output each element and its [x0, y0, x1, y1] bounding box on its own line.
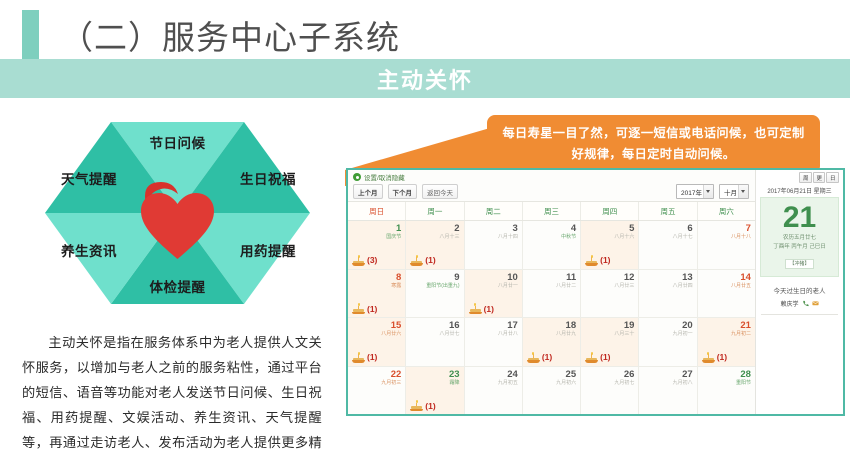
birthday-event[interactable]: (1): [527, 352, 576, 363]
birthday-count: (1): [717, 352, 727, 362]
day-lunar-label: 八月三十: [585, 331, 634, 338]
calendar-day-cell[interactable]: 23霜降(1): [406, 367, 464, 415]
day-number: 17: [469, 320, 518, 331]
day-number: 15: [352, 320, 401, 331]
day-lunar-label: 八月廿二: [527, 283, 576, 290]
day-number: 18: [527, 320, 576, 331]
birthday-cake-icon: [352, 255, 365, 266]
day-number: 9: [410, 272, 459, 283]
prev-month-button[interactable]: 上个月: [353, 184, 383, 199]
day-number: 12: [585, 272, 634, 283]
side-day-card: 21 农历五月廿七 丁酉年 丙午月 己巳日 【冲猪】: [760, 197, 839, 277]
calendar-day-cell[interactable]: 6八月十七: [639, 221, 697, 269]
birthday-event[interactable]: (1): [702, 352, 751, 363]
day-number: 7: [702, 223, 751, 234]
weekday-tuesday: 周二: [465, 202, 523, 220]
calendar-week-row: 15八月廿六(1)16八月廿七17八月廿八18八月廿九(1)19八月三十(1)2…: [348, 318, 755, 367]
today-button[interactable]: 返回今天: [422, 184, 458, 199]
day-number: 10: [469, 272, 518, 283]
birthday-event[interactable]: (1): [352, 303, 401, 314]
day-number: 14: [702, 272, 751, 283]
calendar-day-cell[interactable]: 25九月初六: [523, 367, 581, 415]
side-divider: [761, 314, 838, 315]
day-lunar-label: 九月初七: [585, 380, 634, 387]
day-number: 26: [585, 369, 634, 380]
hex-label-birthday-wish: 生日祝福: [240, 168, 296, 188]
day-lunar-label: 中秋节: [527, 234, 576, 241]
calendar-day-cell[interactable]: 19八月三十(1): [581, 318, 639, 366]
day-lunar-label: 九月初一: [643, 331, 692, 338]
day-number: 21: [702, 320, 751, 331]
calendar-day-cell[interactable]: 24九月初五: [465, 367, 523, 415]
calendar-day-cell[interactable]: 15八月廿六(1): [348, 318, 406, 366]
calendar-day-cell[interactable]: 3八月十四: [465, 221, 523, 269]
weekday-monday: 周一: [406, 202, 464, 220]
day-lunar-label: 八月廿四: [643, 283, 692, 290]
side-day-number: 21: [761, 201, 838, 234]
year-select[interactable]: 2017年: [676, 184, 714, 199]
day-lunar-label: 八月十三: [410, 234, 459, 241]
birthday-count: (1): [484, 304, 494, 314]
day-lunar-label: 九月初五: [469, 380, 518, 387]
day-number: 20: [643, 320, 692, 331]
view-month-button[interactable]: 更: [813, 172, 826, 183]
day-lunar-label: 九月初八: [643, 380, 692, 387]
day-lunar-label: 八月廿七: [410, 331, 459, 338]
slide-root: （二）服务中心子系统 主动关怀 节日问候 生日祝福 用药提醒 体检提醒 养生资讯…: [0, 0, 850, 452]
day-number: 11: [527, 272, 576, 283]
weekday-header: 周日 周一 周二 周三 周四 周五 周六: [348, 201, 755, 221]
side-current-date: 2017年06月21日 星期三: [756, 183, 843, 197]
birthday-count: (1): [425, 401, 435, 411]
weekday-sunday: 周日: [348, 202, 406, 220]
birthday-count: (3): [367, 255, 377, 265]
phone-icon[interactable]: [802, 300, 809, 307]
side-ganzhi-date: 丁酉年 丙午月 己巳日: [761, 243, 838, 252]
calendar-day-cell[interactable]: 13八月廿四: [639, 270, 697, 318]
side-zodiac-tag: 【冲猪】: [785, 259, 813, 269]
calendar-toolbar: 设置/取消隐藏 上个月 下个月 返回今天 2017年 十月: [348, 170, 755, 201]
day-number: 5: [585, 223, 634, 234]
view-toggle-group[interactable]: 周 更 日: [756, 170, 843, 183]
birthday-count: (1): [425, 255, 435, 265]
day-lunar-label: 重阳节(出重九): [410, 283, 459, 290]
description-paragraph: 主动关怀是指在服务体系中为老人提供人文关怀服务，以增加与老人之前的服务粘性，通过…: [22, 330, 322, 452]
calendar-week-row: 8寒露(1)9重阳节(出重九)10八月廿一(1)11八月廿二12八月廿三13八月…: [348, 270, 755, 319]
callout-bubble: 每日寿星一目了然，可逐一短信或电话问候，也可定制好规律，每日定时自动问候。: [487, 115, 820, 174]
view-week-button[interactable]: 周: [799, 172, 812, 183]
side-lunar-date: 农历五月廿七: [761, 234, 838, 243]
calendar-week-row: 1国庆节(3)2八月十三(1)3八月十四4中秋节5八月十六(1)6八月十七7八月…: [348, 221, 755, 270]
day-number: 22: [352, 369, 401, 380]
calendar-day-cell[interactable]: 21九月初二(1): [698, 318, 755, 366]
day-lunar-label: 八月廿五: [702, 283, 751, 290]
day-lunar-label: 八月十四: [469, 234, 518, 241]
message-icon[interactable]: [812, 300, 819, 307]
birthday-event[interactable]: (1): [352, 352, 401, 363]
day-lunar-label: 霜降: [410, 380, 459, 387]
day-number: 1: [352, 223, 401, 234]
hex-label-holiday-greeting: 节日问候: [150, 132, 206, 152]
day-number: 6: [643, 223, 692, 234]
side-birthday-name: 赖庆学: [780, 299, 798, 308]
gear-icon: [353, 173, 361, 181]
calendar-day-cell[interactable]: 10八月廿一(1): [465, 270, 523, 318]
day-number: 3: [469, 223, 518, 234]
next-month-button[interactable]: 下个月: [388, 184, 418, 199]
calendar-day-cell[interactable]: 8寒露(1): [348, 270, 406, 318]
calendar-side-panel: 周 更 日 2017年06月21日 星期三 21 农历五月廿七 丁酉年 丙午月 …: [755, 170, 843, 414]
calendar-day-cell[interactable]: 28重阳节: [698, 367, 755, 415]
day-lunar-label: 八月十八: [702, 234, 751, 241]
birthday-event[interactable]: (1): [585, 255, 634, 266]
birthday-cake-icon: [352, 303, 365, 314]
calendar-day-cell[interactable]: 5八月十六(1): [581, 221, 639, 269]
birthday-cake-icon: [585, 255, 598, 266]
day-lunar-label: 九月初三: [352, 380, 401, 387]
calendar-day-cell[interactable]: 20九月初一: [639, 318, 697, 366]
page-subtitle: 主动关怀: [0, 63, 850, 95]
day-number: 24: [469, 369, 518, 380]
calendar-day-cell[interactable]: 7八月十八: [698, 221, 755, 269]
day-number: 8: [352, 272, 401, 283]
birthday-count: (1): [367, 352, 377, 362]
day-lunar-label: 八月十六: [585, 234, 634, 241]
calendar-day-cell[interactable]: 27九月初八: [639, 367, 697, 415]
birthday-event[interactable]: (1): [469, 303, 518, 314]
page-title: （二）服务中心子系统: [60, 11, 400, 59]
day-number: 16: [410, 320, 459, 331]
weekday-thursday: 周四: [581, 202, 639, 220]
month-select[interactable]: 十月: [719, 184, 749, 199]
birthday-cake-icon: [585, 352, 598, 363]
birthday-cake-icon: [469, 303, 482, 314]
calendar-week-row: 22九月初三23霜降(1)24九月初五25九月初六26九月初七27九月初八28重…: [348, 367, 755, 415]
calendar-main: 设置/取消隐藏 上个月 下个月 返回今天 2017年 十月 周日 周一 周二 周…: [348, 170, 755, 414]
day-lunar-label: 八月廿六: [352, 331, 401, 338]
day-number: 13: [643, 272, 692, 283]
day-number: 27: [643, 369, 692, 380]
day-number: 23: [410, 369, 459, 380]
day-lunar-label: 寒露: [352, 283, 401, 290]
calendar-day-cell[interactable]: 17八月廿八: [465, 318, 523, 366]
calendar-day-cell[interactable]: 4中秋节: [523, 221, 581, 269]
day-lunar-label: 八月廿九: [527, 331, 576, 338]
calendar-grid: 1国庆节(3)2八月十三(1)3八月十四4中秋节5八月十六(1)6八月十七7八月…: [348, 221, 755, 414]
day-lunar-label: 八月廿八: [469, 331, 518, 338]
calendar-day-cell[interactable]: 22九月初三: [348, 367, 406, 415]
calendar-day-cell[interactable]: 1国庆节(3): [348, 221, 406, 269]
calendar-day-cell[interactable]: 2八月十三(1): [406, 221, 464, 269]
view-day-button[interactable]: 日: [826, 172, 839, 183]
birthday-count: (1): [542, 352, 552, 362]
day-lunar-label: 重阳节: [702, 380, 751, 387]
birthday-count: (1): [600, 352, 610, 362]
hex-label-weather-reminder: 天气提醒: [61, 168, 117, 188]
birthday-cake-icon: [702, 352, 715, 363]
birthday-count: (1): [600, 255, 610, 265]
birthday-event[interactable]: (1): [585, 352, 634, 363]
birthday-cake-icon: [352, 352, 365, 363]
day-lunar-label: 八月廿三: [585, 283, 634, 290]
day-number: 28: [702, 369, 751, 380]
calendar-window: 设置/取消隐藏 上个月 下个月 返回今天 2017年 十月 周日 周一 周二 周…: [346, 168, 845, 416]
weekday-saturday: 周六: [698, 202, 755, 220]
day-lunar-label: 八月十七: [643, 234, 692, 241]
calendar-day-cell[interactable]: 18八月廿九(1): [523, 318, 581, 366]
calendar-day-cell[interactable]: 14八月廿五: [698, 270, 755, 318]
day-lunar-label: 八月廿一: [469, 283, 518, 290]
day-number: 19: [585, 320, 634, 331]
calendar-day-cell[interactable]: 26九月初七: [581, 367, 639, 415]
calendar-day-cell[interactable]: 11八月廿二: [523, 270, 581, 318]
calendar-day-cell[interactable]: 12八月廿三: [581, 270, 639, 318]
settings-toggle[interactable]: 设置/取消隐藏: [353, 172, 750, 182]
day-number: 25: [527, 369, 576, 380]
hex-label-health-info: 养生资讯: [61, 240, 117, 260]
day-number: 4: [527, 223, 576, 234]
hex-label-medication-reminder: 用药提醒: [240, 240, 296, 260]
settings-toggle-label: 设置/取消隐藏: [364, 172, 405, 182]
weekday-friday: 周五: [639, 202, 697, 220]
birthday-cake-icon: [410, 400, 423, 411]
birthday-cake-icon: [527, 352, 540, 363]
weekday-wednesday: 周三: [523, 202, 581, 220]
birthday-event[interactable]: (1): [410, 400, 459, 411]
day-lunar-label: 九月初二: [702, 331, 751, 338]
birthday-count: (1): [367, 304, 377, 314]
birthday-cake-icon: [410, 255, 423, 266]
side-birthday-row[interactable]: 赖庆学: [756, 299, 843, 308]
hexagon-diagram: 节日问候 生日祝福 用药提醒 体检提醒 养生资讯 天气提醒: [45, 118, 310, 308]
day-lunar-label: 九月初六: [527, 380, 576, 387]
day-number: 2: [410, 223, 459, 234]
calendar-day-cell[interactable]: 16八月廿七: [406, 318, 464, 366]
birthday-event[interactable]: (1): [410, 255, 459, 266]
side-birthday-title: 今天过生日的老人: [756, 285, 843, 295]
calendar-day-cell[interactable]: 9重阳节(出重九): [406, 270, 464, 318]
birthday-event[interactable]: (3): [352, 255, 401, 266]
day-lunar-label: 国庆节: [352, 234, 401, 241]
hex-label-checkup-reminder: 体检提醒: [150, 276, 206, 296]
